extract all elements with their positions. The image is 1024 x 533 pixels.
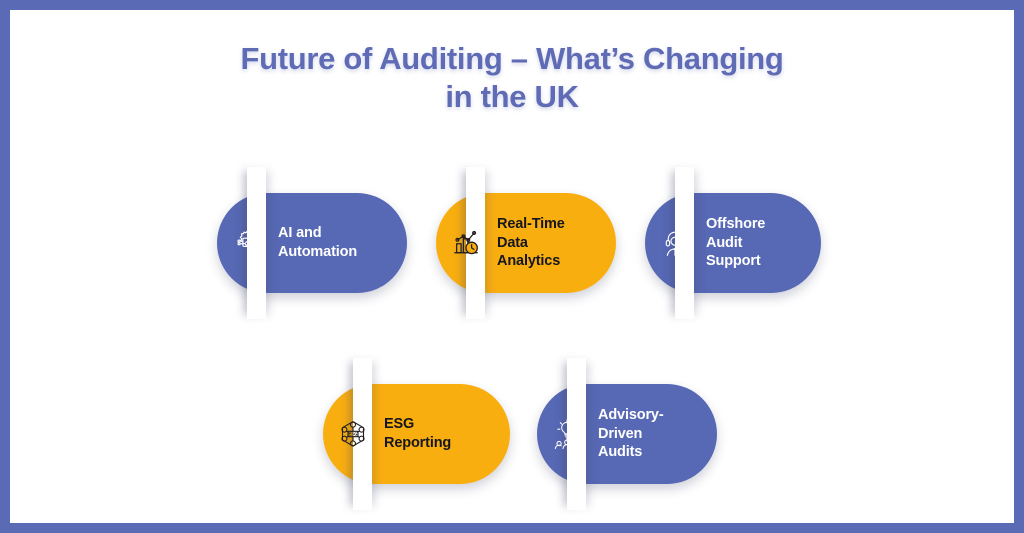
infographic-canvas: Future of Auditing – What’s Changing in …	[10, 10, 1014, 523]
svg-text:ESG: ESG	[349, 431, 358, 436]
card-offshore-audit-support[interactable]: Offshore Audit Support	[645, 193, 835, 293]
esg-hexagon-network-icon: ESG	[334, 415, 372, 453]
card-label: Real-Time Data Analytics	[497, 215, 565, 271]
card-ai-and-automation[interactable]: AI AI and Automation	[217, 193, 407, 293]
card-content: AI AI and Automation	[217, 193, 407, 293]
card-real-time-data-analytics[interactable]: Real-Time Data Analytics	[436, 193, 626, 293]
card-label: ESG Reporting	[384, 415, 451, 452]
card-content: Advisory- Driven Audits	[537, 384, 717, 484]
card-advisory-driven-audits[interactable]: Advisory- Driven Audits	[537, 384, 727, 484]
card-content: ESG ESG Reporting	[323, 384, 510, 484]
infographic-frame: Future of Auditing – What’s Changing in …	[0, 0, 1024, 533]
headset-agent-icon	[656, 224, 694, 262]
card-label: Offshore Audit Support	[706, 215, 765, 271]
card-content: Offshore Audit Support	[645, 193, 821, 293]
ai-gear-circuit-icon: AI	[228, 224, 266, 262]
bar-chart-clock-icon	[447, 224, 485, 262]
page-title: Future of Auditing – What’s Changing in …	[10, 40, 1014, 116]
page-title-line-2: in the UK	[10, 78, 1014, 116]
svg-text:AI: AI	[245, 240, 250, 246]
page-title-line-1: Future of Auditing – What’s Changing	[10, 40, 1014, 78]
card-label: AI and Automation	[278, 224, 357, 261]
card-esg-reporting[interactable]: ESG ESG Reporting	[323, 384, 513, 484]
lightbulb-team-icon	[548, 415, 586, 453]
card-label: Advisory- Driven Audits	[598, 406, 664, 462]
card-content: Real-Time Data Analytics	[436, 193, 616, 293]
